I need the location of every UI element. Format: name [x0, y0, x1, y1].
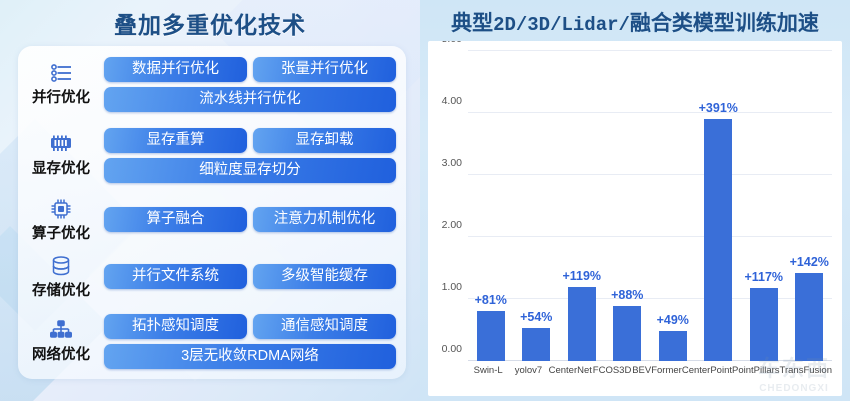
x-axis-tick-label: Swin-L	[468, 365, 508, 376]
pill-stack: 数据并行优化 张量并行优化 流水线并行优化	[104, 57, 396, 112]
pill-stack: 并行文件系统 多级智能缓存	[104, 264, 396, 289]
category-parallel: 并行优化	[24, 61, 98, 107]
x-axis-tick-label: BEVFormer	[632, 365, 682, 376]
pill-stack: 算子融合 注意力机制优化	[104, 207, 396, 232]
pill-memory-offload[interactable]: 显存卸载	[253, 128, 396, 153]
bar[interactable]	[704, 119, 732, 361]
pill-row: 流水线并行优化	[104, 87, 396, 112]
category-label: 存储优化	[32, 279, 90, 300]
left-panel: 叠加多重优化技术 并行优化	[0, 0, 420, 401]
bar-value-label: +391%	[699, 101, 738, 115]
pill-topology-aware-scheduling[interactable]: 拓扑感知调度	[104, 314, 247, 339]
optimization-group-parallel: 并行优化 数据并行优化 张量并行优化 流水线并行优化	[24, 54, 396, 114]
x-axis-tick-label: FCOS3D	[592, 365, 632, 376]
bar[interactable]	[477, 311, 505, 361]
pill-row: 显存重算 显存卸载	[104, 128, 396, 153]
bar-column[interactable]: +142%	[787, 51, 833, 361]
x-axis-tick-label: CenterNet	[549, 365, 592, 376]
optimization-group-operator: 算子优化 算子融合 注意力机制优化	[24, 197, 396, 243]
pill-row: 算子融合 注意力机制优化	[104, 207, 396, 232]
bar-series: +81%+54%+119%+88%+49%+391%+117%+142%	[468, 51, 832, 361]
chart-title: 典型2D/3D/Lidar/融合类模型训练加速	[428, 4, 842, 41]
pill-multilevel-cache[interactable]: 多级智能缓存	[253, 264, 396, 289]
chart-title-suffix: 融合类模型训练加速	[630, 12, 819, 35]
pill-rdma-network[interactable]: 3层无收敛RDMA网络	[104, 344, 396, 369]
bar-value-label: +81%	[475, 293, 507, 307]
y-axis-tick-label: 3.00	[442, 157, 462, 169]
bar-value-label: +117%	[744, 270, 783, 284]
pill-stack: 显存重算 显存卸载 细粒度显存切分	[104, 128, 396, 183]
bar[interactable]	[613, 306, 641, 361]
bar[interactable]	[568, 287, 596, 361]
bar-value-label: +88%	[611, 288, 643, 302]
pill-memory-recompute[interactable]: 显存重算	[104, 128, 247, 153]
memory-chip-icon	[48, 132, 74, 156]
bar-column[interactable]: +117%	[741, 51, 787, 361]
x-axis-tick-label: PointPillars	[732, 365, 780, 376]
bar[interactable]	[750, 288, 778, 361]
optimization-group-storage: 存储优化 并行文件系统 多级智能缓存	[24, 254, 396, 300]
right-panel: 典型2D/3D/Lidar/融合类模型训练加速 0.001.002.003.00…	[420, 0, 850, 401]
bar-column[interactable]: +49%	[650, 51, 696, 361]
pill-attention-optimization[interactable]: 注意力机制优化	[253, 207, 396, 232]
bar-column[interactable]: +88%	[605, 51, 651, 361]
chart-plot-area: 0.001.002.003.004.005.00+81%+54%+119%+88…	[468, 51, 832, 361]
cpu-chip-icon	[49, 197, 73, 221]
category-network: 网络优化	[24, 318, 98, 364]
y-axis-tick-label: 2.00	[442, 219, 462, 231]
pill-communication-aware-scheduling[interactable]: 通信感知调度	[253, 314, 396, 339]
bar-value-label: +142%	[790, 255, 829, 269]
optimization-card: 并行优化 数据并行优化 张量并行优化 流水线并行优化	[18, 46, 406, 379]
chart-card: 0.001.002.003.004.005.00+81%+54%+119%+88…	[428, 41, 842, 396]
bar-column[interactable]: +54%	[514, 51, 560, 361]
bar[interactable]	[522, 328, 550, 361]
category-label: 网络优化	[32, 343, 90, 364]
pill-row: 并行文件系统 多级智能缓存	[104, 264, 396, 289]
category-operator: 算子优化	[24, 197, 98, 243]
chart-title-prefix: 典型	[451, 12, 493, 35]
chart-x-axis: Swin-Lyolov7CenterNetFCOS3DBEVFormerCent…	[468, 361, 832, 376]
left-panel-title: 叠加多重优化技术	[0, 0, 420, 40]
y-axis-tick-label: 0.00	[442, 343, 462, 355]
category-memory: 显存优化	[24, 132, 98, 178]
bar-column[interactable]: +81%	[468, 51, 514, 361]
pill-row: 数据并行优化 张量并行优化	[104, 57, 396, 82]
pill-operator-fusion[interactable]: 算子融合	[104, 207, 247, 232]
bar-value-label: +49%	[657, 313, 689, 327]
bar-value-label: +54%	[520, 310, 552, 324]
pill-data-parallel[interactable]: 数据并行优化	[104, 57, 247, 82]
pill-tensor-parallel[interactable]: 张量并行优化	[253, 57, 396, 82]
bar-column[interactable]: +119%	[559, 51, 605, 361]
y-axis-tick-label: 5.00	[442, 41, 462, 45]
watermark-subtext: CHEDONGXI	[758, 383, 830, 394]
optimization-group-memory: 显存优化 显存重算 显存卸载 细粒度显存切分	[24, 125, 396, 185]
pill-stack: 拓扑感知调度 通信感知调度 3层无收敛RDMA网络	[104, 314, 396, 369]
infographic-stage: 叠加多重优化技术 并行优化	[0, 0, 850, 401]
pill-parallel-filesystem[interactable]: 并行文件系统	[104, 264, 247, 289]
pill-pipeline-parallel[interactable]: 流水线并行优化	[104, 87, 396, 112]
optimization-group-network: 网络优化 拓扑感知调度 通信感知调度 3层无收敛RDMA网络	[24, 311, 396, 371]
y-axis-tick-label: 1.00	[442, 281, 462, 293]
bar-column[interactable]: +391%	[696, 51, 742, 361]
y-axis-tick-label: 4.00	[442, 95, 462, 107]
bar[interactable]	[795, 273, 823, 361]
sliders-parallel-icon	[49, 61, 73, 85]
bar[interactable]	[659, 331, 687, 361]
bar-value-label: +119%	[562, 269, 601, 283]
pill-fine-grained-memory-partition[interactable]: 细粒度显存切分	[104, 158, 396, 183]
pill-row: 拓扑感知调度 通信感知调度	[104, 314, 396, 339]
category-label: 显存优化	[32, 157, 90, 178]
x-axis-tick-label: TransFusion	[780, 365, 832, 376]
pill-row: 细粒度显存切分	[104, 158, 396, 183]
category-storage: 存储优化	[24, 254, 98, 300]
category-label: 算子优化	[32, 222, 90, 243]
database-icon	[50, 254, 72, 278]
x-axis-tick-label: CenterPoint	[682, 365, 732, 376]
category-label: 并行优化	[32, 86, 90, 107]
network-tree-icon	[49, 318, 73, 342]
x-axis-tick-label: yolov7	[508, 365, 548, 376]
chart-title-mono: 2D/3D/Lidar/	[493, 14, 630, 36]
pill-row: 3层无收敛RDMA网络	[104, 344, 396, 369]
